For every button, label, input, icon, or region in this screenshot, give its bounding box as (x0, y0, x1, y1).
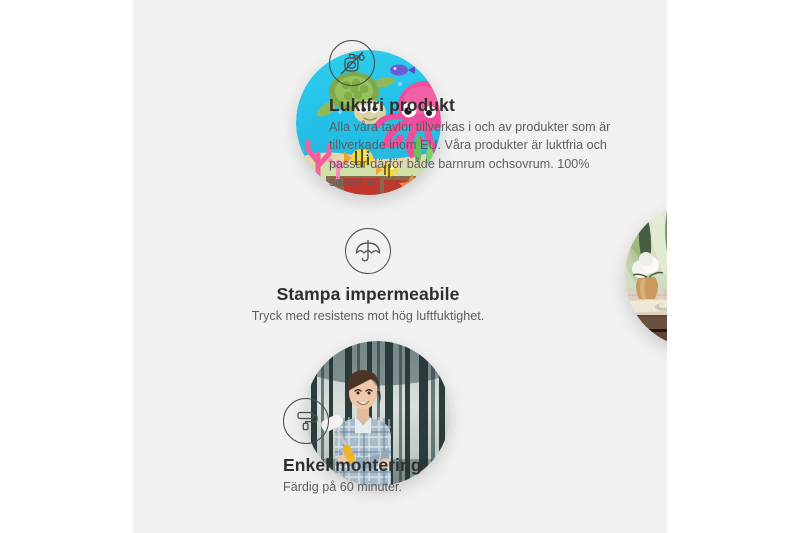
feature-title: Enkel montering (283, 455, 543, 475)
feature-title: Stampa impermeabile (223, 284, 513, 304)
feature-description: Tryck med resistens mot hög luftfuktighe… (223, 307, 513, 325)
feature-description: Alla våra tavlor tillverkas i och av pro… (329, 118, 629, 191)
feature-easy-mounting: Enkel montering Färdig på 60 minuter. (283, 398, 543, 496)
no-perfume-icon (329, 40, 375, 86)
paint-roller-icon (283, 398, 329, 444)
infographic-stage: Luktfri produkt Alla våra tavlor tillver… (0, 0, 800, 533)
feature-waterproof: Stampa impermeabile Tryck med resistens … (223, 228, 513, 325)
feature-odour-free: Luktfri produkt Alla våra tavlor tillver… (329, 40, 629, 191)
umbrella-icon (345, 228, 391, 274)
photo-bathroom (625, 203, 667, 348)
infographic-panel: Luktfri produkt Alla våra tavlor tillver… (133, 0, 667, 533)
feature-description: Färdig på 60 minuter. (283, 478, 543, 496)
feature-title: Luktfri produkt (329, 95, 629, 115)
